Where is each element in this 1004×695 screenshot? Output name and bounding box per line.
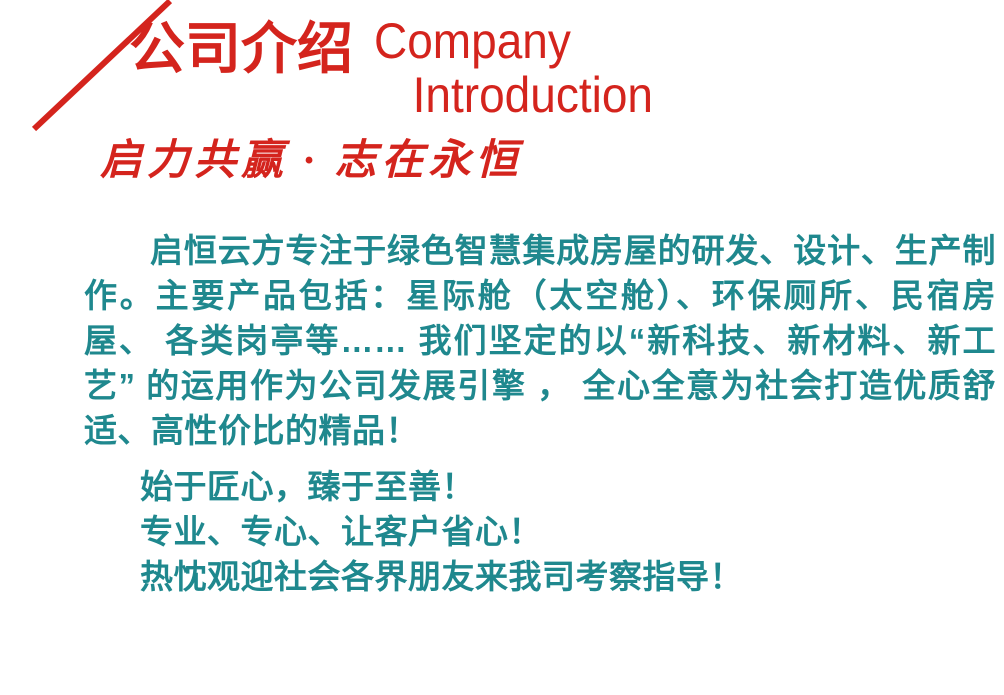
- tag-line-welcome: 热忱观迎社会各界朋友来我司考察指导！: [84, 554, 996, 599]
- page-title-chinese: 公司介绍: [129, 18, 353, 80]
- intro-paragraph: 启恒云方专注于绿色智慧集成房屋的研发、设计、生产制作。主要产品包括：星际舱（太空…: [84, 228, 996, 453]
- page-title-english-line1: Company: [374, 14, 653, 68]
- page-title-english-line2: Introduction: [374, 68, 653, 122]
- body-copy: 启恒云方专注于绿色智慧集成房屋的研发、设计、生产制作。主要产品包括：星际舱（太空…: [84, 228, 996, 599]
- page-header: 公司介绍 Company Introduction: [0, 0, 1004, 132]
- company-slogan: 启力共赢 · 志在永恒: [100, 136, 523, 186]
- page-title-english: Company Introduction: [374, 14, 677, 122]
- company-introduction-page: 公司介绍 Company Introduction 启力共赢 · 志在永恒 启恒…: [0, 0, 1004, 695]
- tag-line-service: 专业、专心、让客户省心！: [84, 509, 996, 554]
- tag-line-craftsmanship: 始于匠心，臻于至善！: [84, 464, 996, 509]
